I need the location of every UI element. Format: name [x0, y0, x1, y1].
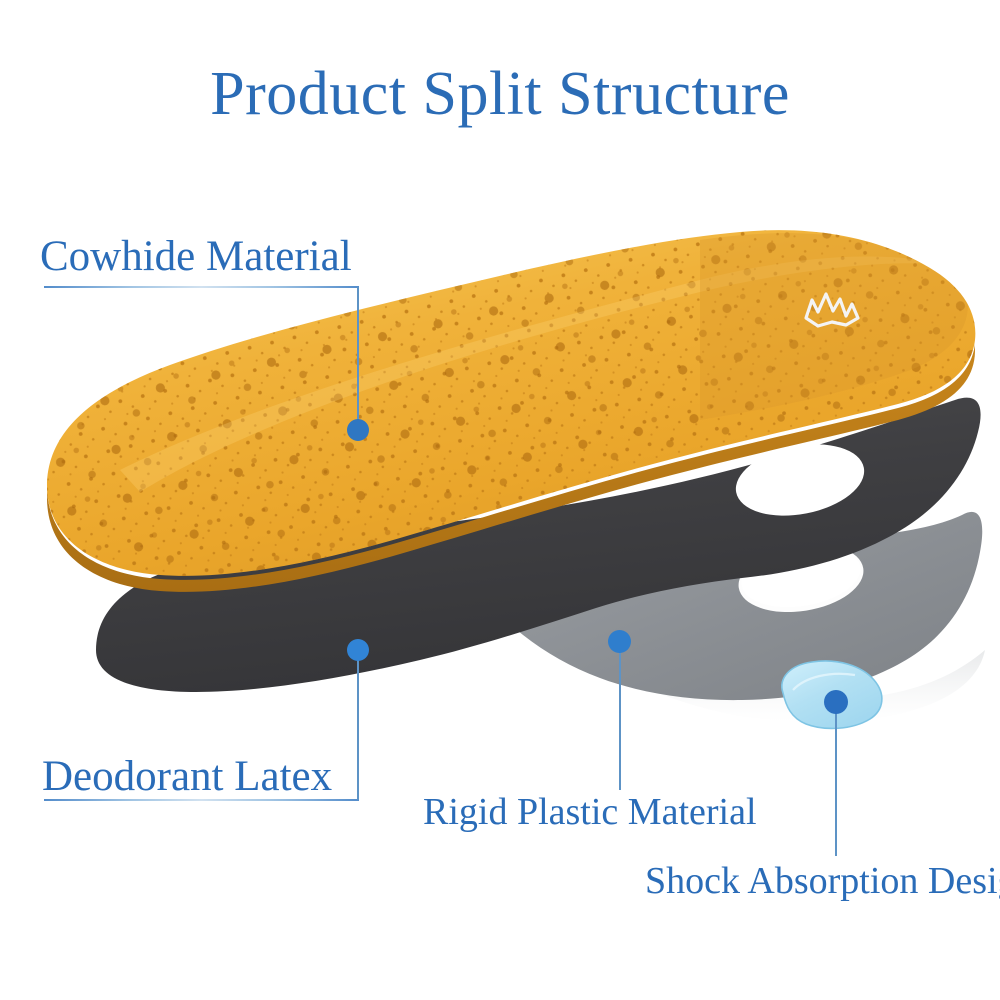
page-title: Product Split Structure: [0, 58, 1000, 130]
callout-label-shock-absorption: Shock Absorption Design: [645, 858, 1000, 904]
callout-label-cowhide: Cowhide Material: [40, 232, 352, 282]
callout-dot-cowhide[interactable]: [347, 419, 369, 441]
callout-dot-rigid-plastic[interactable]: [608, 630, 631, 653]
callout-dot-latex[interactable]: [347, 639, 369, 661]
infographic-canvas: Product Split Structure Cowhide Material…: [0, 0, 1000, 1000]
callout-label-latex: Deodorant Latex: [42, 752, 332, 802]
callout-underline-latex: [44, 799, 359, 801]
callout-leader-shock-absorption: [835, 701, 837, 856]
callout-underline-cowhide: [44, 286, 359, 288]
callout-leader-cowhide: [357, 287, 359, 430]
callout-label-rigid-plastic: Rigid Plastic Material: [423, 789, 757, 835]
callout-leader-rigid-plastic: [619, 641, 621, 790]
callout-leader-latex: [357, 650, 359, 800]
gel-heel-pad: [0, 0, 1000, 1000]
callout-dot-shock-absorption[interactable]: [824, 690, 848, 714]
